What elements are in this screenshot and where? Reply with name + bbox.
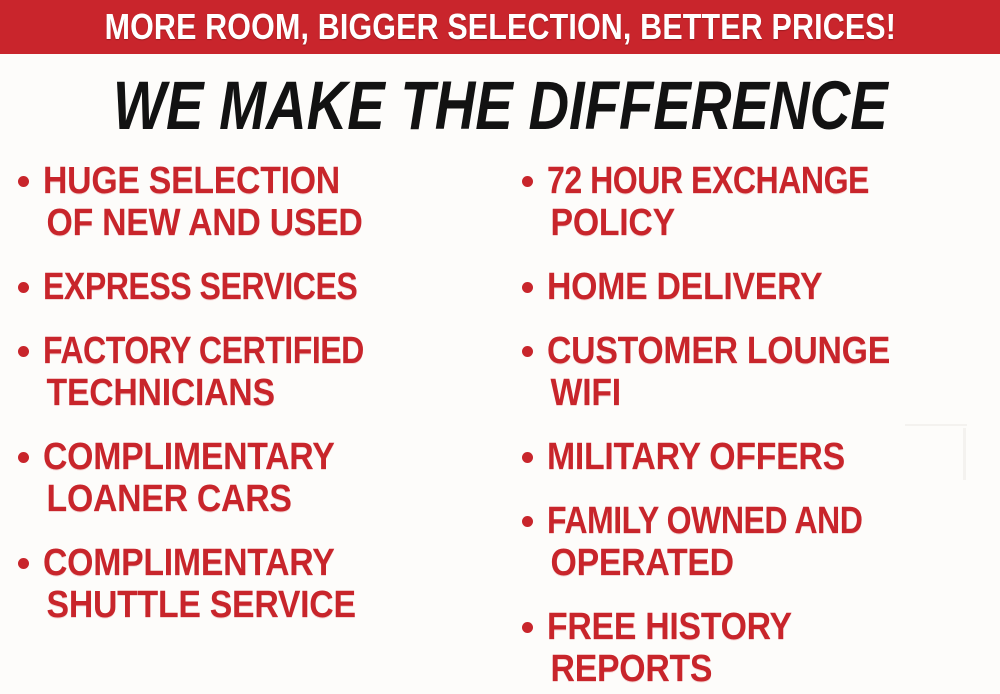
benefit-list-item: MILITARY OFFERS — [522, 436, 1000, 478]
benefit-text-line: TECHNICIANS — [43, 372, 450, 414]
benefit-text-line: 72 HOUR EXCHANGE — [547, 160, 930, 202]
banner-headline-text: MORE ROOM, BIGGER SELECTION, BETTER PRIC… — [104, 9, 895, 45]
benefit-text-line: FAMILY OWNED AND — [547, 500, 930, 542]
bullet-dot-icon — [18, 452, 29, 463]
benefit-text-block: FREE HISTORYREPORTS — [547, 606, 1000, 690]
scan-artifact — [905, 424, 967, 426]
benefit-list-item: COMPLIMENTARYSHUTTLE SERVICE — [18, 542, 500, 626]
bullet-dot-icon — [18, 282, 29, 293]
page-title: WE MAKE THE DIFFERENCE — [113, 71, 888, 140]
benefit-text-line: HOME DELIVERY — [547, 266, 950, 308]
benefit-text-line: SHUTTLE SERVICE — [43, 584, 450, 626]
benefit-list-item: HOME DELIVERY — [522, 266, 1000, 308]
benefit-text-line: MILITARY OFFERS — [547, 436, 950, 478]
benefits-column-right: 72 HOUR EXCHANGEPOLICYHOME DELIVERYCUSTO… — [522, 160, 1000, 694]
benefit-text-line: CUSTOMER LOUNGE — [547, 330, 950, 372]
benefit-text-line: POLICY — [547, 202, 950, 244]
benefit-text-line: LOANER CARS — [43, 478, 450, 520]
top-promo-banner: MORE ROOM, BIGGER SELECTION, BETTER PRIC… — [0, 0, 1000, 54]
benefit-text-line: OF NEW AND USED — [43, 202, 450, 244]
benefit-text-line: WIFI — [547, 372, 950, 414]
benefit-text-block: COMPLIMENTARYSHUTTLE SERVICE — [43, 542, 500, 626]
benefit-text-block: 72 HOUR EXCHANGEPOLICY — [547, 160, 1000, 244]
bullet-dot-icon — [522, 176, 533, 187]
benefit-text-block: FACTORY CERTIFIEDTECHNICIANS — [43, 330, 500, 414]
benefit-list-item: 72 HOUR EXCHANGEPOLICY — [522, 160, 1000, 244]
benefit-list-item: FAMILY OWNED ANDOPERATED — [522, 500, 1000, 584]
benefit-text-block: EXPRESS SERVICES — [43, 266, 500, 308]
benefit-list-item: FREE HISTORYREPORTS — [522, 606, 1000, 690]
bullet-dot-icon — [18, 558, 29, 569]
benefit-list-item: EXPRESS SERVICES — [18, 266, 500, 308]
benefit-text-line: OPERATED — [547, 542, 950, 584]
benefit-text-block: COMPLIMENTARYLOANER CARS — [43, 436, 500, 520]
benefit-text-line: COMPLIMENTARY — [43, 436, 450, 478]
benefit-list-item: CUSTOMER LOUNGEWIFI — [522, 330, 1000, 414]
bullet-dot-icon — [522, 622, 533, 633]
benefit-list-item: FACTORY CERTIFIEDTECHNICIANS — [18, 330, 500, 414]
bullet-dot-icon — [18, 176, 29, 187]
bullet-dot-icon — [522, 452, 533, 463]
benefit-text-block: FAMILY OWNED ANDOPERATED — [547, 500, 1000, 584]
benefits-column-left: HUGE SELECTIONOF NEW AND USEDEXPRESS SER… — [18, 160, 500, 694]
benefit-text-line: HUGE SELECTION — [43, 160, 450, 202]
benefit-text-line: FREE HISTORY — [547, 606, 950, 648]
benefit-text-line: FACTORY CERTIFIED — [43, 330, 429, 372]
bullet-dot-icon — [522, 516, 533, 527]
main-headline-container: WE MAKE THE DIFFERENCE — [0, 68, 1000, 142]
benefit-text-block: HOME DELIVERY — [547, 266, 1000, 308]
promo-poster: MORE ROOM, BIGGER SELECTION, BETTER PRIC… — [0, 0, 1000, 694]
benefit-list-item: HUGE SELECTIONOF NEW AND USED — [18, 160, 500, 244]
benefit-list-item: COMPLIMENTARYLOANER CARS — [18, 436, 500, 520]
benefits-columns: HUGE SELECTIONOF NEW AND USEDEXPRESS SER… — [0, 160, 1000, 694]
scan-artifact — [963, 428, 966, 480]
benefit-text-block: CUSTOMER LOUNGEWIFI — [547, 330, 1000, 414]
bullet-dot-icon — [522, 282, 533, 293]
benefit-text-line: COMPLIMENTARY — [43, 542, 450, 584]
benefit-text-block: HUGE SELECTIONOF NEW AND USED — [43, 160, 500, 244]
benefit-text-block: MILITARY OFFERS — [547, 436, 1000, 478]
bullet-dot-icon — [522, 346, 533, 357]
bullet-dot-icon — [18, 346, 29, 357]
benefit-text-line: EXPRESS SERVICES — [43, 266, 429, 308]
benefit-text-line: REPORTS — [547, 648, 950, 690]
